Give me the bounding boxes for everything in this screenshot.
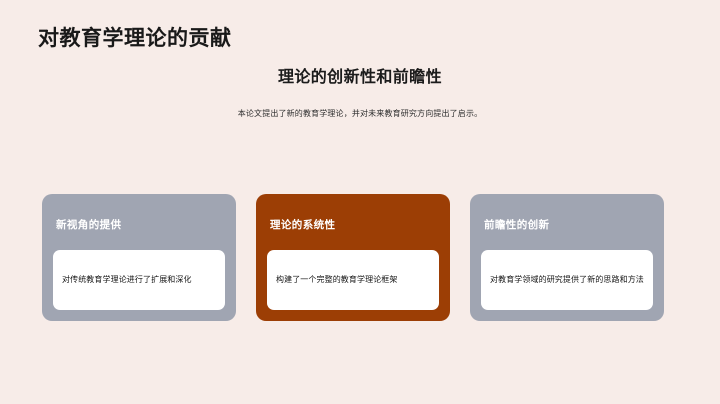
card-body-box: 构建了一个完整的教育学理论框架 xyxy=(267,250,439,310)
section-subtitle: 理论的创新性和前瞻性 xyxy=(0,68,720,89)
page-title: 对教育学理论的贡献 xyxy=(38,25,232,52)
card-theory-systematic[interactable]: 理论的系统性 构建了一个完整的教育学理论框架 xyxy=(256,194,450,321)
card-body-text: 对教育学领域的研究提供了新的思路和方法 xyxy=(481,273,653,287)
card-body-box: 对传统教育学理论进行了扩展和深化 xyxy=(53,250,225,310)
card-new-perspective[interactable]: 新视角的提供 对传统教育学理论进行了扩展和深化 xyxy=(42,194,236,321)
section-description: 本论文提出了新的教育学理论，并对未来教育研究方向提出了启示。 xyxy=(0,108,720,120)
card-body-text: 对传统教育学理论进行了扩展和深化 xyxy=(53,273,201,287)
card-title: 理论的系统性 xyxy=(270,219,335,232)
card-body-text: 构建了一个完整的教育学理论框架 xyxy=(267,273,407,287)
card-forward-looking-innovation[interactable]: 前瞻性的创新 对教育学领域的研究提供了新的思路和方法 xyxy=(470,194,664,321)
cards-row: 新视角的提供 对传统教育学理论进行了扩展和深化 理论的系统性 构建了一个完整的教… xyxy=(42,194,664,321)
slide-canvas: 对教育学理论的贡献 理论的创新性和前瞻性 本论文提出了新的教育学理论，并对未来教… xyxy=(0,0,720,404)
card-title: 前瞻性的创新 xyxy=(484,219,549,232)
card-body-box: 对教育学领域的研究提供了新的思路和方法 xyxy=(481,250,653,310)
card-title: 新视角的提供 xyxy=(56,219,121,232)
